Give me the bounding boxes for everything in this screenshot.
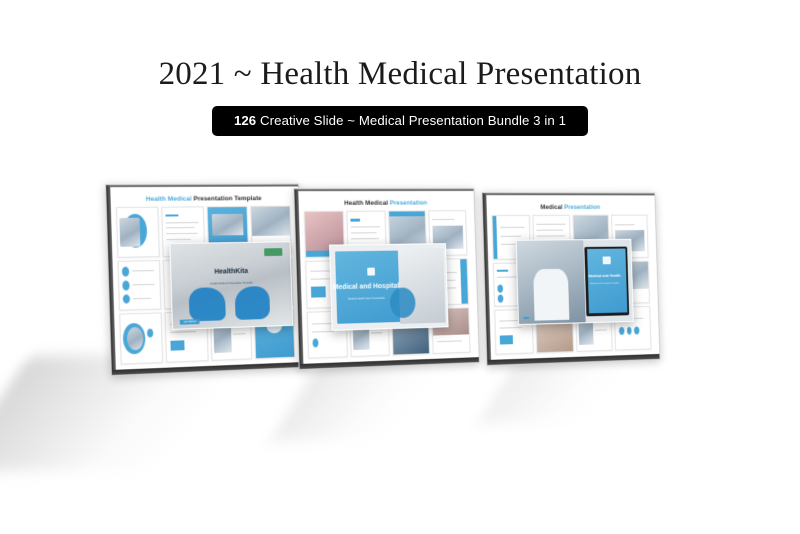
panel-1-heading-dark: Presentation Template: [192, 195, 262, 202]
hero-photo-glove-left: [189, 287, 226, 322]
hero-hospital-icon: [367, 268, 375, 277]
panel-2-heading-dark: Health Medical: [344, 200, 388, 207]
hero-photo-glove-right: [234, 286, 270, 321]
panel-1[interactable]: Health Medical Presentation Template: [105, 184, 305, 376]
panel-3-screen: Medical Presentation: [487, 198, 655, 360]
panel-3-heading: Medical Presentation: [487, 198, 650, 215]
panel-1-hero-slide[interactable]: HealthKita Health Medical Presentation T…: [169, 241, 293, 330]
panel-2-heading-accent: Presentation: [388, 200, 427, 207]
panel-1-screen: Health Medical Presentation Template: [111, 189, 299, 369]
badge-text: Creative Slide ~ Medical Presentation Bu…: [256, 113, 566, 128]
panel-2-bezel-top: [294, 189, 473, 191]
panel-3-heading-dark: Medical: [540, 204, 562, 211]
panel-2-heading: Health Medical Presentation: [299, 194, 469, 211]
page-header: 2021 ~ Health Medical Presentation 126 C…: [0, 0, 800, 136]
panel-3[interactable]: Medical Presentation: [482, 192, 661, 366]
panel-3-hero-title: Medical and Health: [580, 272, 630, 278]
panel-3-hero-slide[interactable]: Medical and Health Healthcare Presentati…: [515, 239, 633, 326]
slide-thumbnail[interactable]: [116, 207, 160, 258]
subtitle-badge-wrap: 126 Creative Slide ~ Medical Presentatio…: [0, 106, 800, 136]
status-badge: 126 Creative Slide ~ Medical Presentatio…: [212, 106, 588, 136]
panel-1-hero-badge[interactable]: Get Started: [180, 319, 200, 325]
panel-1-heading-accent: Health Medical: [146, 196, 192, 203]
panel-2[interactable]: Health Medical Presentation: [293, 188, 480, 370]
panel-2-screen: Health Medical Presentation: [299, 194, 474, 364]
hero-doctor-coat: [533, 268, 569, 320]
panel-1-bezel-top: [106, 185, 298, 188]
panel-3-hero-badge[interactable]: [523, 317, 529, 319]
panel-2-hero-slide[interactable]: Medical and Hospital Medical Health Care…: [329, 243, 449, 331]
page-title: 2021 ~ Health Medical Presentation: [0, 0, 800, 92]
presentation-showcase: Health Medical Presentation Template: [0, 170, 800, 500]
hero-lock-icon: [603, 256, 611, 263]
panel-1-heading: Health Medical Presentation Template: [111, 189, 294, 207]
panel-3-heading-accent: Presentation: [562, 204, 600, 211]
hero-globe-icon: [390, 288, 416, 319]
slide-thumbnail[interactable]: [118, 260, 162, 311]
panel-3-bezel-top: [482, 193, 654, 195]
slide-count: 126: [234, 113, 256, 128]
slide-thumbnail[interactable]: [119, 313, 163, 365]
panel-1-hero-logo: [264, 248, 283, 256]
